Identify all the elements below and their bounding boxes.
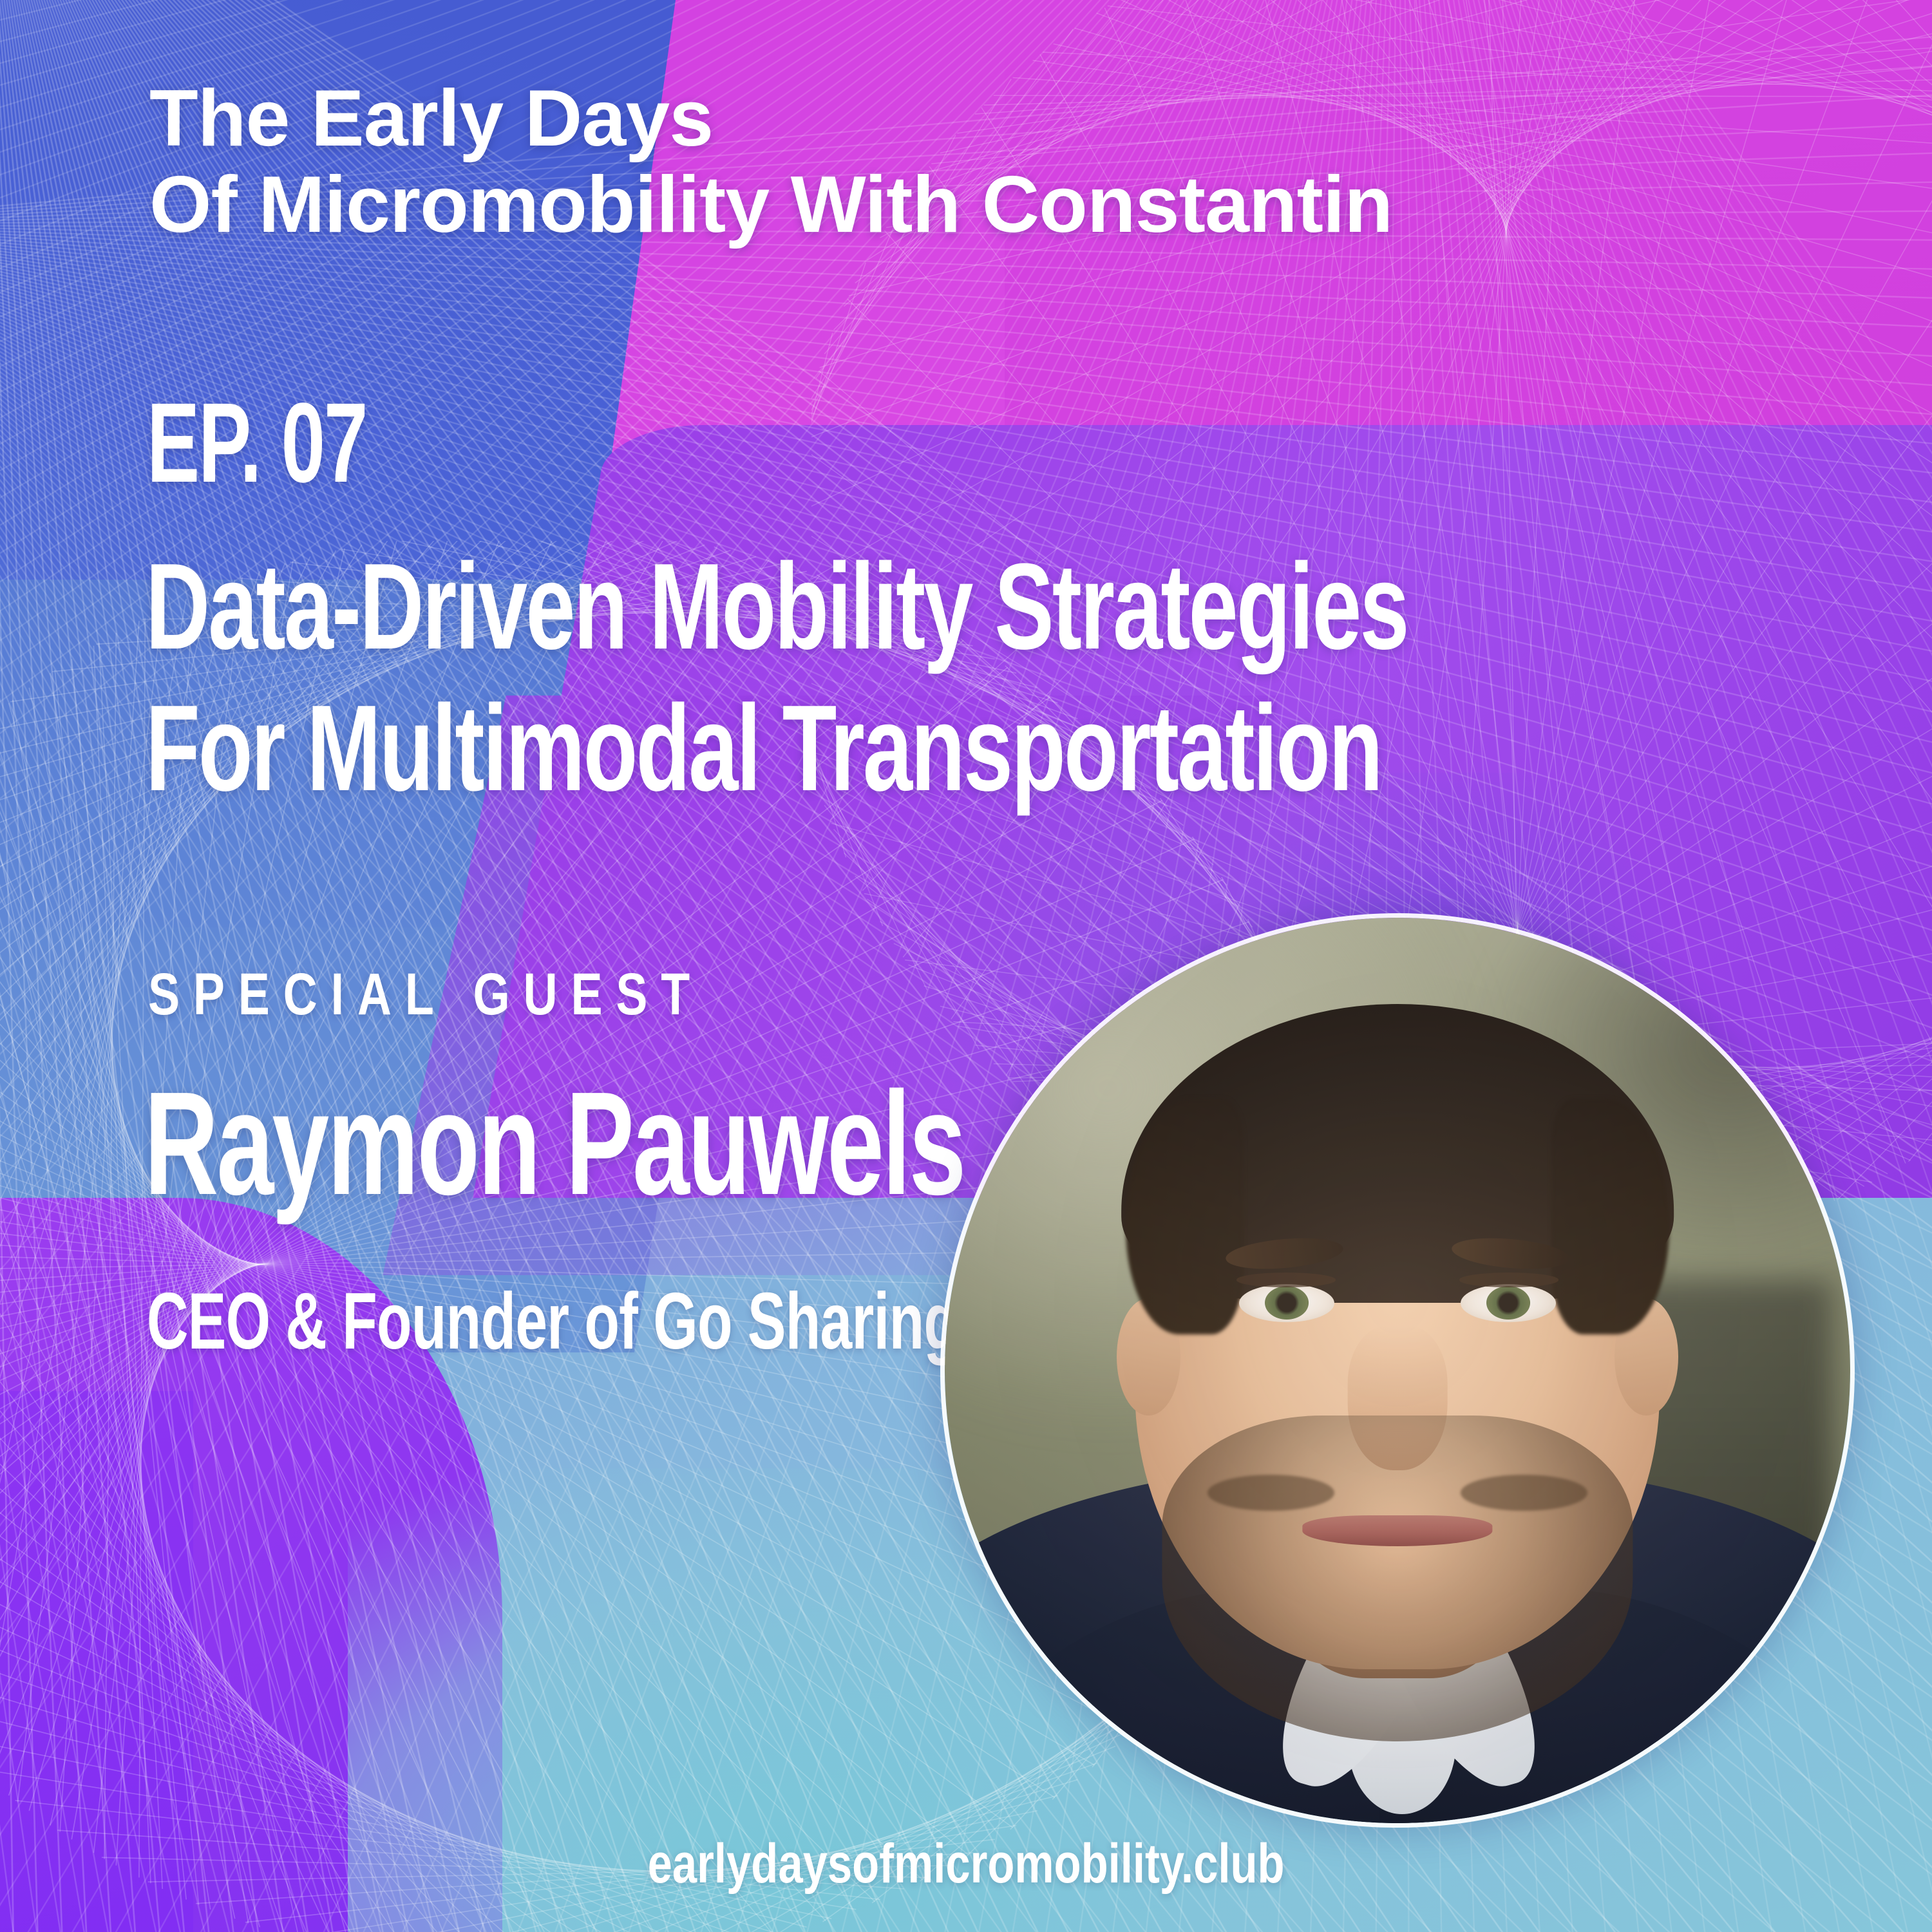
- episode-number: EP. 07: [147, 386, 366, 500]
- guest-photo-image: [945, 918, 1850, 1823]
- photo-vignette: [945, 918, 1850, 1823]
- show-title: The Early Days Of Micromobility With Con…: [149, 76, 1392, 249]
- website-url: earlydaysofmicromobility.club: [0, 1832, 1932, 1896]
- special-guest-label: SPECIAL GUEST: [148, 961, 703, 1028]
- guest-role: CEO & Founder of Go Sharing: [147, 1282, 958, 1361]
- episode-title-line-2: For Multimodal Transportation: [146, 677, 1408, 819]
- show-title-line-2: Of Micromobility With Constantin: [149, 162, 1392, 249]
- episode-title-line-1: Data-Driven Mobility Strategies: [146, 536, 1408, 677]
- podcast-cover: The Early Days Of Micromobility With Con…: [0, 0, 1932, 1932]
- guest-name: Raymon Pauwels: [144, 1070, 965, 1217]
- episode-title: Data-Driven Mobility Strategies For Mult…: [146, 536, 1408, 820]
- guest-photo: [940, 913, 1855, 1828]
- website-url-text: earlydaysofmicromobility.club: [648, 1832, 1285, 1896]
- show-title-line-1: The Early Days: [149, 76, 1392, 162]
